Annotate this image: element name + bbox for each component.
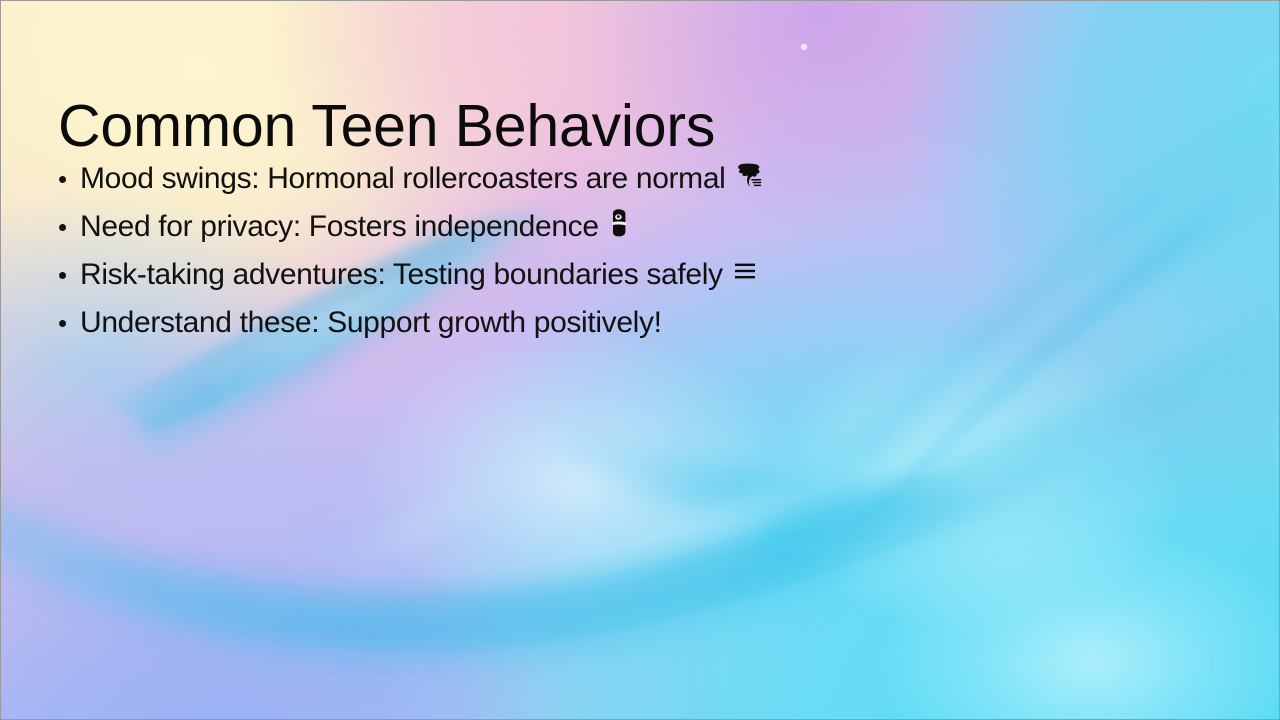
bullet-marker-icon: • [58, 203, 80, 251]
bullet-marker-icon: • [58, 155, 80, 203]
trigram-heaven-icon [732, 256, 758, 286]
list-item: • Understand these: Support growth posit… [58, 299, 1208, 347]
tornado-icon [734, 160, 764, 190]
bullet-text: Need for privacy: Fosters independence [80, 203, 599, 251]
list-item: • Need for privacy: Fosters independence [58, 203, 1208, 251]
bullet-text: Risk-taking adventures: Testing boundari… [80, 251, 723, 299]
bullet-marker-icon: • [58, 251, 80, 299]
door-icon [608, 208, 632, 238]
bullet-text: Mood swings: Hormonal rollercoasters are… [80, 155, 725, 203]
slide-content: Common Teen Behaviors • Mood swings: Hor… [1, 1, 1280, 720]
list-item: • Risk-taking adventures: Testing bounda… [58, 251, 1208, 299]
bullet-marker-icon: • [58, 299, 80, 347]
list-item: • Mood swings: Hormonal rollercoasters a… [58, 155, 1208, 203]
bullet-list: • Mood swings: Hormonal rollercoasters a… [58, 155, 1208, 347]
presentation-slide: Common Teen Behaviors • Mood swings: Hor… [0, 0, 1280, 720]
bullet-text: Understand these: Support growth positiv… [80, 299, 662, 347]
slide-title: Common Teen Behaviors [58, 95, 715, 159]
